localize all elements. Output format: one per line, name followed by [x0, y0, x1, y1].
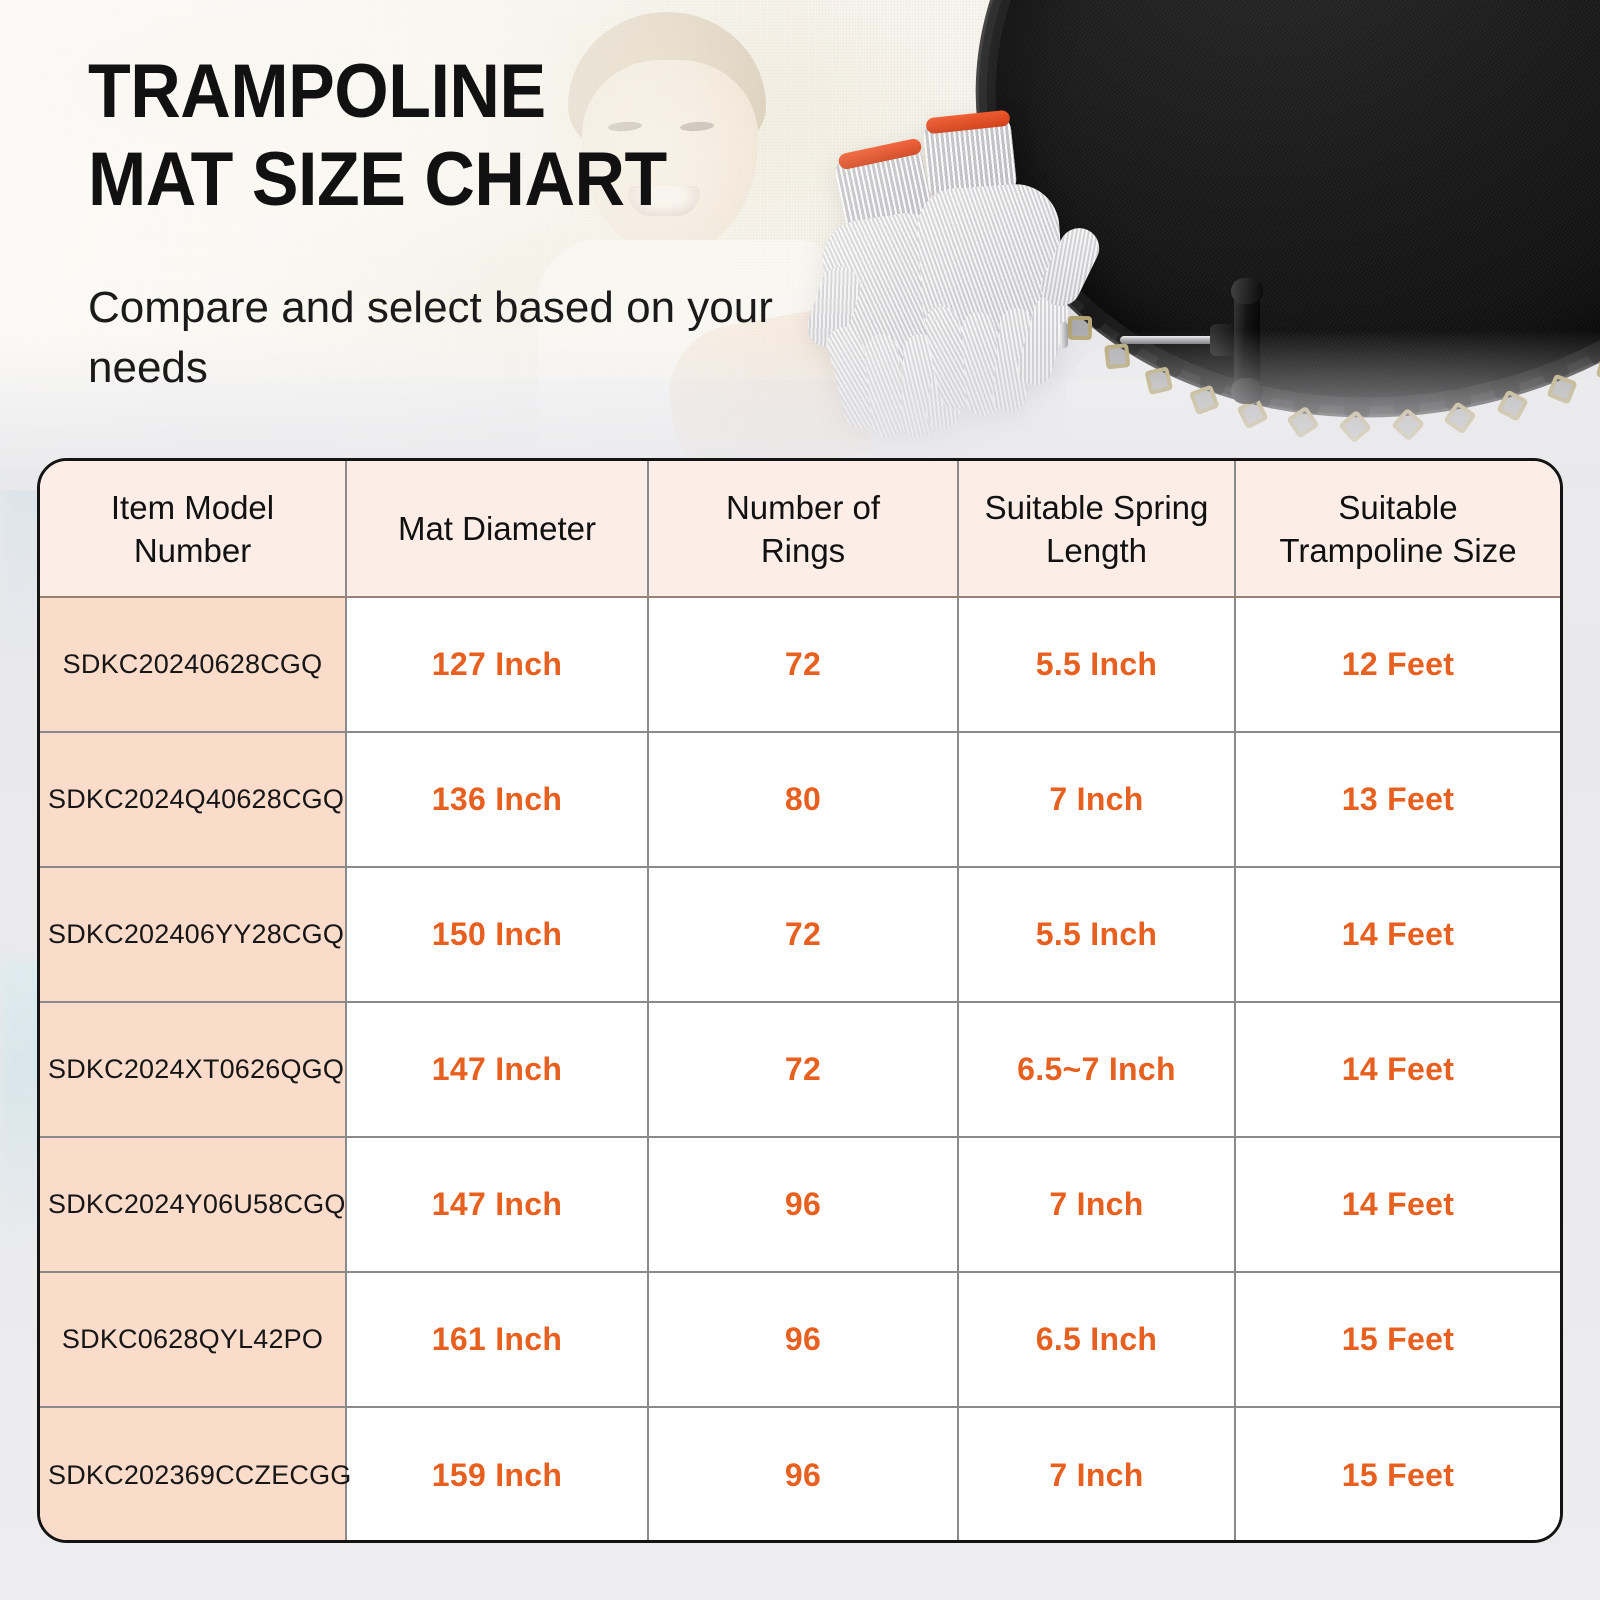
cell-number-of-rings: 72 [648, 597, 958, 732]
cell-mat-diameter: 161 Inch [346, 1272, 648, 1407]
cell-item-model-number: SDKC2024Y06U58CGQ [40, 1137, 346, 1272]
column-header-line: Item Model [48, 486, 337, 529]
cell-mat-diameter: 159 Inch [346, 1407, 648, 1542]
cell-item-model-number: SDKC202369CCZECGG [40, 1407, 346, 1542]
table-row: SDKC202369CCZECGG159 Inch967 Inch15 Feet [40, 1407, 1560, 1542]
cell-suitable-spring-length: 7 Inch [958, 732, 1235, 867]
cell-number-of-rings: 80 [648, 732, 958, 867]
table-row: SDKC2024Q40628CGQ136 Inch807 Inch13 Feet [40, 732, 1560, 867]
table-header: Item ModelNumber Mat Diameter Number ofR… [40, 461, 1560, 597]
cell-number-of-rings: 72 [648, 867, 958, 1002]
cell-number-of-rings: 96 [648, 1137, 958, 1272]
cell-item-model-number: SDKC2024Q40628CGQ [40, 732, 346, 867]
size-chart-table: Item ModelNumber Mat Diameter Number ofR… [40, 461, 1560, 1542]
cell-item-model-number: SDKC2024XT0626QGQ [40, 1002, 346, 1137]
cell-suitable-trampoline-size: 15 Feet [1235, 1272, 1560, 1407]
cell-item-model-number: SDKC20240628CGQ [40, 597, 346, 732]
column-header-number-of-rings: Number ofRings [648, 461, 958, 597]
column-header-line: Trampoline Size [1244, 529, 1552, 572]
cell-suitable-spring-length: 5.5 Inch [958, 597, 1235, 732]
cell-suitable-trampoline-size: 14 Feet [1235, 1002, 1560, 1137]
cell-suitable-spring-length: 5.5 Inch [958, 867, 1235, 1002]
cell-item-model-number: SDKC0628QYL42PO [40, 1272, 346, 1407]
cell-suitable-trampoline-size: 13 Feet [1235, 732, 1560, 867]
cell-mat-diameter: 147 Inch [346, 1002, 648, 1137]
page-title-line-2: MAT SIZE CHART [88, 136, 677, 224]
table-row: SDKC20240628CGQ127 Inch725.5 Inch12 Feet [40, 597, 1560, 732]
cell-number-of-rings: 96 [648, 1272, 958, 1407]
table-header-row: Item ModelNumber Mat Diameter Number ofR… [40, 461, 1560, 597]
column-header-line: Length [967, 529, 1226, 572]
cell-suitable-trampoline-size: 15 Feet [1235, 1407, 1560, 1542]
column-header-line: Suitable [1244, 486, 1552, 529]
cell-number-of-rings: 72 [648, 1002, 958, 1137]
page-title-line-1: TRAMPOLINE [88, 48, 677, 136]
column-header-line: Suitable Spring [967, 486, 1226, 529]
column-header-mat-diameter: Mat Diameter [346, 461, 648, 597]
table-row: SDKC2024XT0626QGQ147 Inch726.5~7 Inch14 … [40, 1002, 1560, 1137]
size-chart-table-container: Item ModelNumber Mat Diameter Number ofR… [37, 458, 1563, 1543]
table-row: SDKC0628QYL42PO161 Inch966.5 Inch15 Feet [40, 1272, 1560, 1407]
table-row: SDKC2024Y06U58CGQ147 Inch967 Inch14 Feet [40, 1137, 1560, 1272]
column-header-suitable-spring-length: Suitable SpringLength [958, 461, 1235, 597]
table-row: SDKC202406YY28CGQ150 Inch725.5 Inch14 Fe… [40, 867, 1560, 1002]
cell-number-of-rings: 96 [648, 1407, 958, 1542]
column-header-suitable-trampoline-size: SuitableTrampoline Size [1235, 461, 1560, 597]
page-title: TRAMPOLINE MAT SIZE CHART [88, 48, 728, 224]
column-header-line: Number of [657, 486, 949, 529]
table-body: SDKC20240628CGQ127 Inch725.5 Inch12 Feet… [40, 597, 1560, 1542]
cell-mat-diameter: 127 Inch [346, 597, 648, 732]
cell-item-model-number: SDKC202406YY28CGQ [40, 867, 346, 1002]
column-header-line: Number [48, 529, 337, 572]
column-header-item-model-number: Item ModelNumber [40, 461, 346, 597]
column-header-line: Mat Diameter [355, 507, 639, 550]
cell-suitable-trampoline-size: 14 Feet [1235, 1137, 1560, 1272]
page-subtitle: Compare and select based on your needs [88, 278, 788, 398]
cell-suitable-trampoline-size: 14 Feet [1235, 867, 1560, 1002]
column-header-line: Rings [657, 529, 949, 572]
cell-suitable-spring-length: 7 Inch [958, 1407, 1235, 1542]
cell-suitable-spring-length: 6.5 Inch [958, 1272, 1235, 1407]
cell-mat-diameter: 147 Inch [346, 1137, 648, 1272]
cell-suitable-trampoline-size: 12 Feet [1235, 597, 1560, 732]
cell-suitable-spring-length: 6.5~7 Inch [958, 1002, 1235, 1137]
cell-mat-diameter: 136 Inch [346, 732, 648, 867]
cell-suitable-spring-length: 7 Inch [958, 1137, 1235, 1272]
cell-mat-diameter: 150 Inch [346, 867, 648, 1002]
